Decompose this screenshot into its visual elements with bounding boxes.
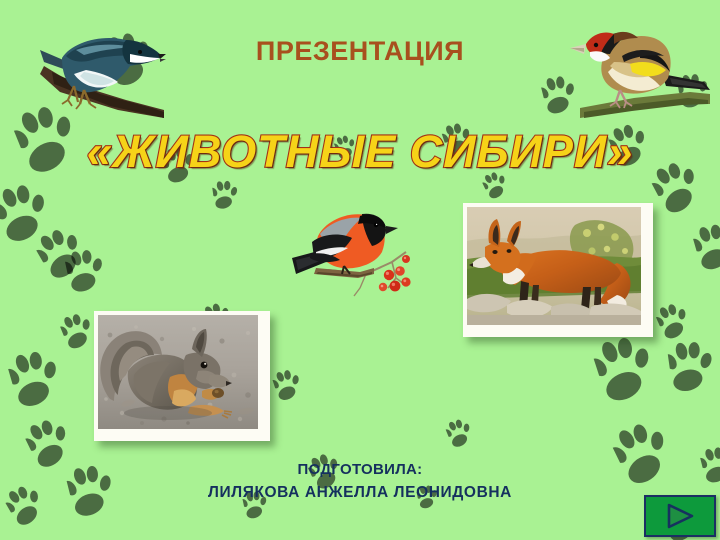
page-pre-title: ПРЕЗЕНТАЦИЯ: [0, 36, 720, 67]
page-title: «ЖИВОТНЫЕ СИБИРИ»: [0, 126, 720, 178]
paw-print: [444, 416, 477, 451]
next-slide-button[interactable]: [644, 495, 716, 537]
presentation-slide: ПРЕЗЕНТАЦИЯ «ЖИВОТНЫЕ СИБИРИ»: [0, 0, 720, 540]
bullfinch-bird-image: [288, 196, 414, 308]
credits-label: ПОДГОТОВИЛА:: [0, 458, 720, 481]
paw-print: [590, 330, 662, 408]
paw-print: [0, 178, 56, 248]
credits-author: ЛИЛЯКОВА АНЖЕЛЛА ЛЕОНИДОВНА: [0, 481, 720, 505]
paw-print: [691, 219, 720, 274]
paw-print: [271, 366, 306, 403]
goldfinch-bird-image: [570, 16, 716, 122]
paw-print: [32, 221, 93, 284]
squirrel-photo: [94, 311, 270, 441]
credits-block: ПОДГОТОВИЛА: ЛИЛЯКОВА АНЖЕЛЛА ЛЕОНИДОВНА: [0, 458, 720, 505]
paw-print: [5, 345, 67, 412]
paw-print: [666, 338, 717, 395]
play-arrow-icon: [665, 503, 695, 529]
paw-print: [211, 179, 240, 212]
red-fox-photo: [463, 203, 653, 337]
nuthatch-bird-image: [14, 14, 166, 122]
paw-print: [58, 309, 99, 353]
paw-print: [653, 299, 695, 343]
paw-print: [63, 246, 108, 296]
